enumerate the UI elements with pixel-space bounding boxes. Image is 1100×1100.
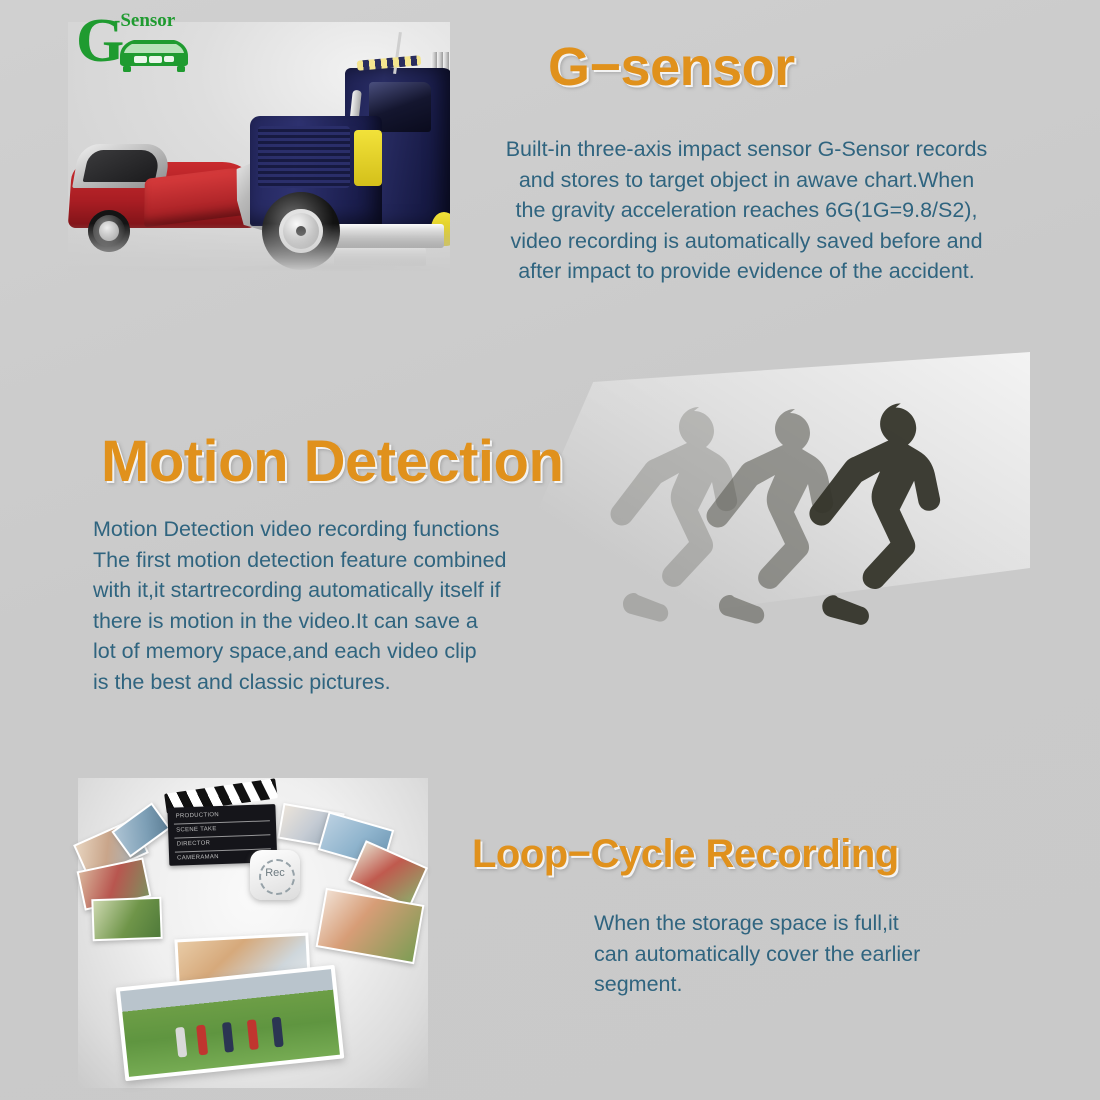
running-silhouettes-illustration	[576, 386, 986, 651]
truck-grille	[258, 126, 350, 188]
section-title-g-sensor: G−sensor	[548, 36, 795, 98]
car-front-icon	[110, 32, 198, 77]
section-body-loop-cycle: When the storage space is full,it can au…	[594, 908, 974, 1000]
truck-step	[334, 248, 426, 266]
section-title-motion-detection: Motion Detection	[101, 428, 563, 495]
section-body-g-sensor: Built-in three-axis impact sensor G-Sens…	[474, 134, 1019, 287]
rec-loop-button[interactable]: Rec	[250, 850, 300, 900]
collage-photo-left-3	[91, 897, 162, 941]
car-wheel	[88, 210, 130, 252]
section-title-loop-cycle: Loop−Cycle Recording	[472, 832, 899, 877]
car-window	[83, 150, 162, 182]
section-body-motion-detection: Motion Detection video recording functio…	[93, 514, 563, 697]
semi-truck-graphic	[216, 30, 450, 270]
soccer-field-photo	[120, 969, 340, 1077]
photo-loop-collage-illustration: PRODUCTION SCENE TAKE DIRECTOR CAMERAMAN…	[78, 778, 428, 1088]
truck-wheel	[262, 192, 340, 270]
truck-yellow-trim	[354, 130, 382, 186]
g-sensor-logo: G -Sensor	[76, 6, 200, 78]
runner-silhouette-3	[772, 393, 982, 651]
logo-sensor-text: -Sensor	[114, 10, 175, 32]
rec-button-label: Rec	[250, 867, 300, 879]
infographic-page: G -Sensor G−sensor Built-in three-axis i…	[0, 0, 1100, 1100]
